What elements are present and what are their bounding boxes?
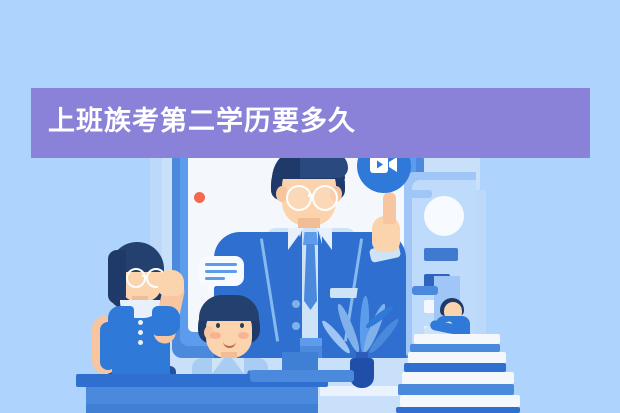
desk-shadow [86,404,318,413]
monitor-base [250,370,354,382]
title-banner: 上班族考第二学历要多久 [31,88,590,158]
boy-collar-right [232,358,244,374]
teacher-collar-left [288,228,304,250]
glasses-icon [126,268,146,288]
book [404,363,506,372]
speech-bubble-line [205,270,237,273]
avatar [424,196,464,236]
woman-sleeve-raised [152,306,180,336]
teacher-jacket-button [292,322,300,330]
boy-cheek [210,332,221,339]
pointing-finger-icon [383,192,396,224]
book [398,384,514,395]
glasses-bridge [308,194,313,197]
boy-collar-left [212,358,224,374]
hero-illustration [0,0,620,413]
glasses-icon [312,185,338,211]
teacher-jacket-button [292,300,300,308]
teacher-tie-knot [303,232,318,245]
book [408,352,506,363]
teacher-collar-right [316,228,332,250]
book [400,395,520,407]
book [396,407,520,413]
woman-hair-side [108,250,126,304]
teacher-tie [304,244,317,310]
side-panel-chip [408,190,432,198]
book [402,372,514,384]
boy-eye [240,323,244,328]
glasses-bridge [142,275,146,277]
speech-bubble-line [205,263,237,266]
book [410,344,500,352]
wall-chip [412,286,438,295]
speech-bubble-tail [208,283,218,295]
boy-hair-fringe [199,295,259,321]
woman-button [138,320,143,325]
recording-dot-icon [194,192,205,203]
side-panel-bar [424,248,458,261]
screenshot-canvas: 上班族考第二学历要多久 [0,0,620,413]
page-title: 上班族考第二学历要多久 [48,102,356,142]
speech-bubble-line [205,277,225,280]
glasses-icon [286,185,312,211]
woman-button [138,330,143,335]
woman-button [138,340,143,345]
woman-sleeve [108,306,134,336]
book [414,334,500,344]
woman-hand [158,270,184,296]
boy-eye [216,323,220,328]
boy-cheek [238,332,249,339]
